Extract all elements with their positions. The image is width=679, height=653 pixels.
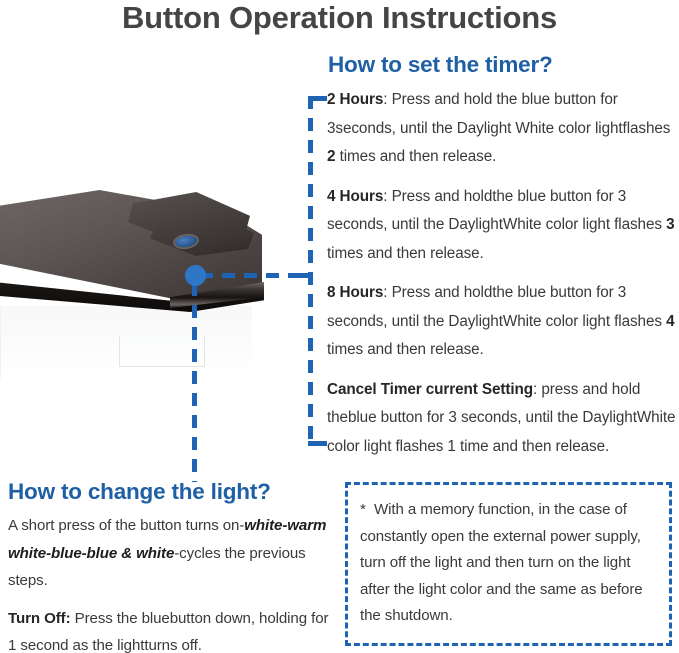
timer-item-8-hours-tail: times and then release.	[327, 341, 484, 358]
turn-off-label: Turn Off:	[8, 610, 71, 627]
timer-item-4-hours-sep: :	[383, 188, 391, 205]
product-photo	[0, 186, 268, 378]
turn-off-paragraph: Turn Off: Press the bluebutton down, hol…	[8, 605, 336, 653]
timer-item-cancel-label: Cancel Timer current Setting	[327, 381, 533, 398]
timer-item-cancel: Cancel Timer current Setting: press and …	[327, 376, 679, 462]
timer-item-4-hours-count: 3	[666, 216, 674, 233]
light-cycle-prefix: A short press of the button turns on-	[8, 517, 244, 534]
timer-section-heading: How to set the timer?	[328, 51, 553, 79]
callout-dot-blue-button	[185, 265, 206, 286]
light-section-heading: How to change the light?	[8, 478, 271, 506]
product-tank-body	[0, 306, 252, 378]
memory-note-spacer	[366, 501, 374, 518]
callout-line-vertical	[192, 283, 197, 482]
timer-bracket-bottom-cap	[308, 441, 327, 446]
timer-instruction-list: 2 Hours: Press and hold the blue button …	[327, 86, 679, 472]
memory-note-paragraph: * With a memory function, in the case of…	[360, 497, 655, 630]
timer-item-2-hours-tail: times and then release.	[335, 148, 496, 165]
callout-line-horizontal	[200, 273, 313, 278]
timer-item-8-hours-count: 4	[666, 313, 674, 330]
timer-item-8-hours-sep: :	[383, 284, 391, 301]
timer-item-4-hours: 4 Hours: Press and holdthe blue button f…	[327, 183, 679, 269]
page-title: Button Operation Instructions	[0, 0, 679, 38]
memory-function-note-box: * With a memory function, in the case of…	[345, 482, 672, 646]
timer-item-2-hours-sep: :	[383, 91, 391, 108]
timer-item-4-hours-tail: times and then release.	[327, 245, 484, 262]
timer-item-8-hours: 8 Hours: Press and holdthe blue button f…	[327, 279, 679, 365]
timer-item-8-hours-label: 8 Hours	[327, 284, 383, 301]
timer-item-2-hours-label: 2 Hours	[327, 91, 383, 108]
memory-note-text: With a memory function, in the case of c…	[360, 501, 643, 624]
timer-item-2-hours: 2 Hours: Press and hold the blue button …	[327, 86, 679, 172]
timer-bracket-top-cap	[308, 96, 327, 101]
timer-item-4-hours-label: 4 Hours	[327, 188, 383, 205]
light-cycle-paragraph: A short press of the button turns on-whi…	[8, 512, 336, 595]
instruction-sheet: Button Operation Instructions How to set…	[0, 0, 679, 653]
timer-bracket-line	[308, 96, 313, 446]
light-instruction-body: A short press of the button turns on-whi…	[8, 512, 336, 653]
